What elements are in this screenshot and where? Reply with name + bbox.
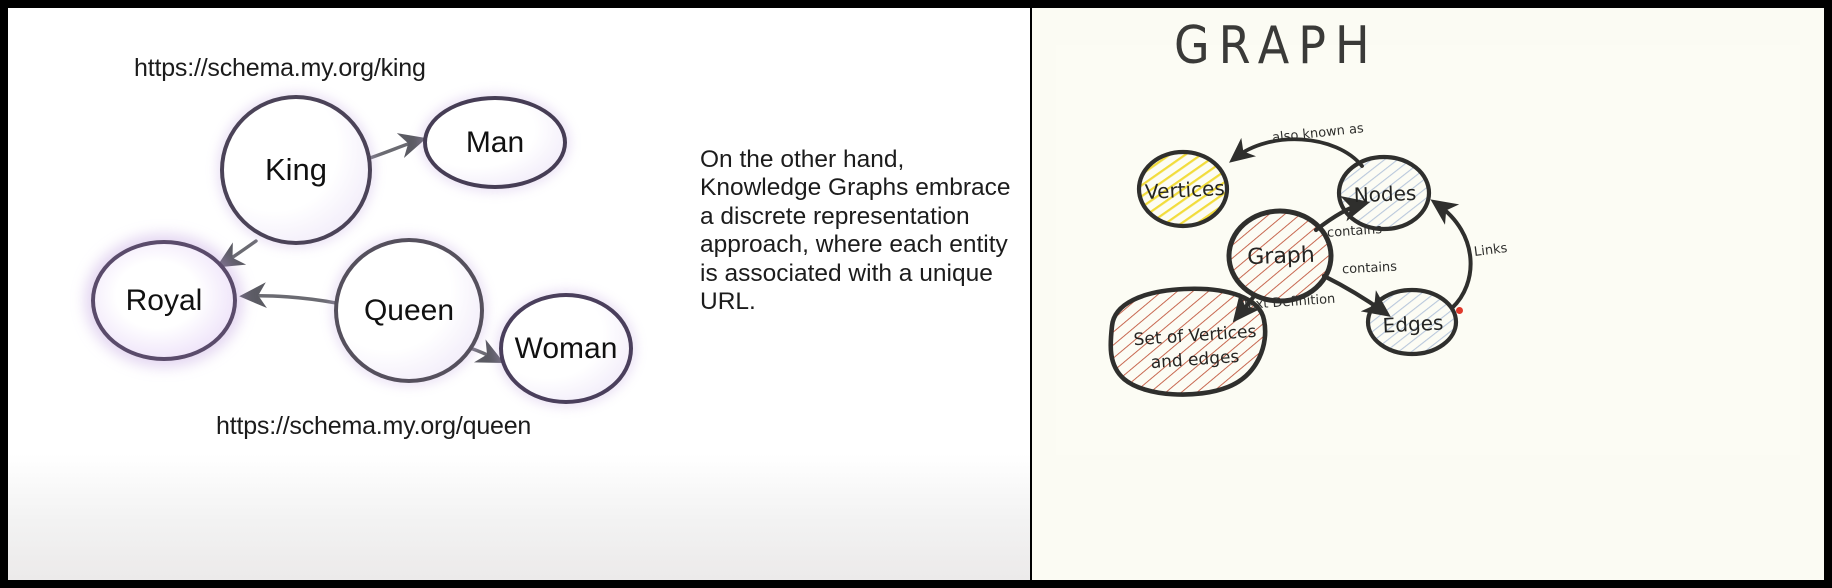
kg-node-queen[interactable]: Queen [334,238,484,383]
url-label-king: https://schema.my.org/king [134,54,426,83]
kg-node-king[interactable]: King [220,95,372,245]
left-slide-panel: https://schema.my.org/king King Man Roya… [8,8,1030,580]
whiteboard-panel: GRAPH [1032,8,1824,580]
url-label-queen: https://schema.my.org/queen [216,412,531,441]
wb-edge-label-contains-edges: contains [1342,260,1398,278]
wb-node-edges-label[interactable]: Edges [1379,310,1446,337]
wb-node-nodes-label[interactable]: Nodes [1349,181,1422,207]
kg-node-royal-label: Royal [126,284,203,318]
kg-node-woman-label: Woman [515,332,618,366]
kg-node-king-label: King [265,152,327,188]
kg-node-woman[interactable]: Woman [499,293,633,404]
whiteboard-drawing-layer [1032,8,1824,580]
body-paragraph: On the other hand, Knowledge Graphs embr… [700,146,1030,316]
slide-stage: https://schema.my.org/king King Man Roya… [0,0,1832,588]
wb-node-vertices-label[interactable]: Vertices [1144,176,1223,204]
accent-dot [1456,307,1463,314]
wb-node-graph-label[interactable]: Graph [1244,243,1319,271]
kg-node-queen-label: Queen [364,294,454,328]
kg-node-man-label: Man [466,126,524,160]
kg-node-man[interactable]: Man [423,96,567,189]
kg-node-royal[interactable]: Royal [91,240,237,361]
